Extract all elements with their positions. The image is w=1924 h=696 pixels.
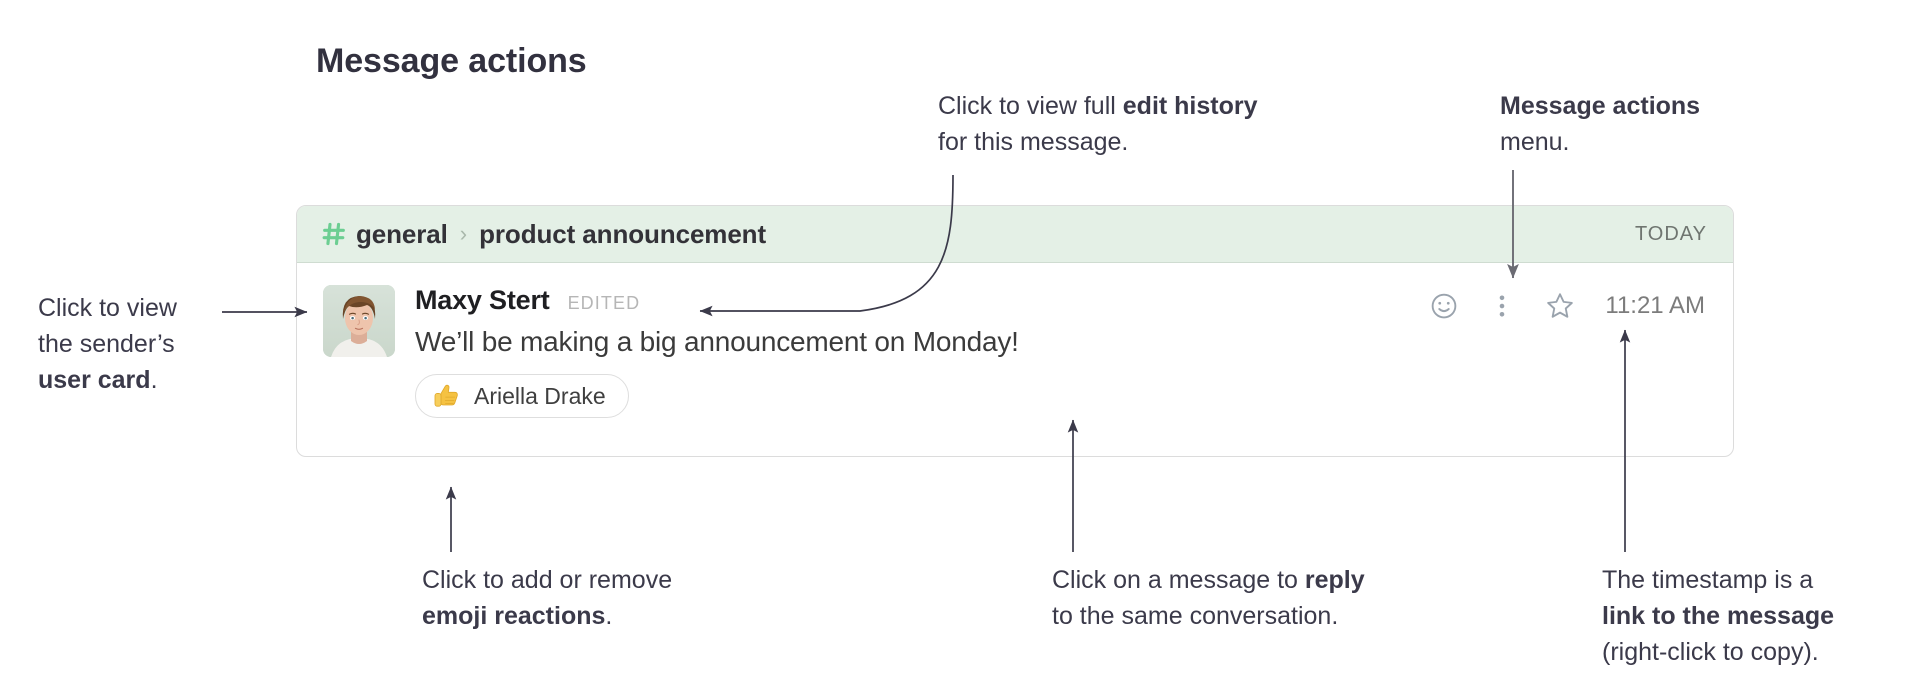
message-controls: 11:21 AM — [1417, 291, 1705, 321]
annotation-emoji-line1: Click to add or remove — [422, 562, 672, 598]
annotation-text: Click to view full — [938, 92, 1123, 120]
annotation-timestamp: The timestamp is a link to the message (… — [1602, 562, 1834, 670]
header-date-label: TODAY — [1635, 223, 1707, 246]
annotation-edit-history-line1: Click to view full edit history — [938, 88, 1258, 124]
edited-badge[interactable]: EDITED — [568, 293, 641, 314]
breadcrumb-topic[interactable]: product announcement — [479, 219, 766, 250]
annotation-text-bold: Message actions — [1500, 92, 1700, 120]
annotation-text-bold: emoji reactions — [422, 602, 605, 630]
message-card: general › product announcement TODAY — [296, 205, 1734, 457]
annotation-text: . — [151, 366, 158, 394]
actions-menu-button[interactable] — [1471, 291, 1533, 321]
emoji-picker-button[interactable] — [1417, 291, 1471, 321]
message-text[interactable]: We’ll be making a big announcement on Mo… — [415, 326, 1707, 358]
message-row[interactable]: Maxy Stert EDITED We’ll be making a big … — [297, 263, 1733, 418]
annotation-text-bold: user card — [38, 366, 151, 394]
card-header: general › product announcement TODAY — [297, 206, 1733, 263]
annotation-user-card: Click to view the sender’s user card. — [38, 290, 177, 398]
annotation-text-bold: reply — [1305, 566, 1365, 594]
annotation-actions-menu: Message actions menu. — [1500, 88, 1700, 160]
annotation-text-bold: edit history — [1123, 92, 1258, 120]
breadcrumb-stream[interactable]: general — [356, 219, 448, 250]
sender-name[interactable]: Maxy Stert — [415, 285, 550, 316]
annotation-user-card-line2: the sender’s — [38, 326, 177, 362]
annotation-actions-menu-line2: menu. — [1500, 124, 1700, 160]
star-icon — [1545, 291, 1575, 321]
star-button[interactable] — [1533, 291, 1587, 321]
annotation-timestamp-line1: The timestamp is a — [1602, 562, 1834, 598]
hash-icon — [321, 221, 347, 247]
annotation-reply: Click on a message to reply to the same … — [1052, 562, 1365, 634]
annotation-text: Click on a message to — [1052, 566, 1305, 594]
annotation-text-bold: link to the message — [1602, 602, 1834, 630]
annotation-edit-history: Click to view full edit history for this… — [938, 88, 1258, 160]
annotation-emoji-reactions: Click to add or remove emoji reactions. — [422, 562, 672, 634]
avatar[interactable] — [323, 285, 395, 357]
annotation-text: . — [605, 602, 612, 630]
reactions-row: Ariella Drake — [415, 374, 1707, 418]
annotation-edit-history-line2: for this message. — [938, 124, 1258, 160]
page-title: Message actions — [316, 42, 587, 81]
emoji-picker-icon — [1429, 291, 1459, 321]
message-timestamp[interactable]: 11:21 AM — [1605, 292, 1705, 320]
reaction-pill[interactable]: Ariella Drake — [415, 374, 629, 418]
vertical-dots-icon — [1487, 291, 1517, 321]
annotation-reply-line2: to the same conversation. — [1052, 598, 1365, 634]
reaction-label: Ariella Drake — [474, 383, 606, 410]
annotation-timestamp-line3: (right-click to copy). — [1602, 634, 1834, 670]
annotation-user-card-line1: Click to view — [38, 290, 177, 326]
breadcrumb-separator-icon: › — [460, 221, 467, 247]
thumbs-up-emoji — [432, 381, 462, 411]
